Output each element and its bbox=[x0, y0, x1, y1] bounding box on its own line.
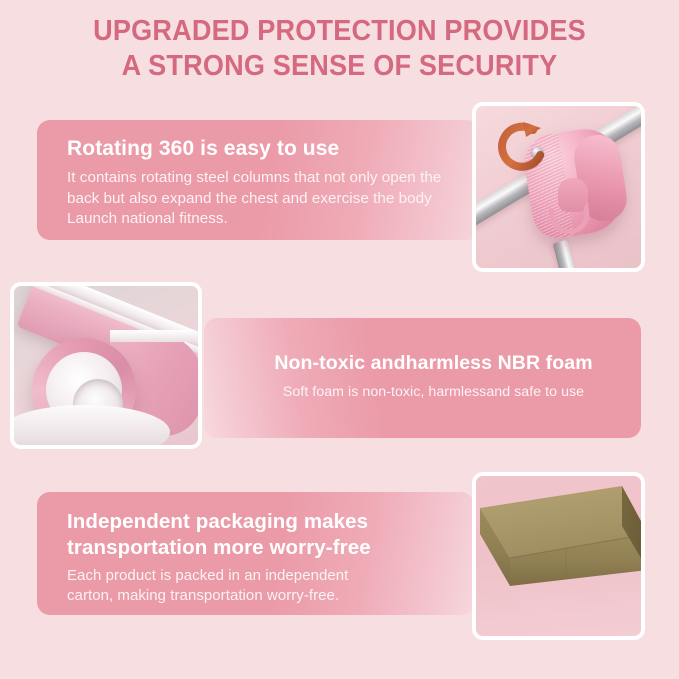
feature-card-packaging: Independent packaging makes transportati… bbox=[37, 492, 474, 615]
feature-rotating-body: It contains rotating steel columns that … bbox=[67, 168, 460, 230]
feature-packaging-body-line-2: carton, making transportation worry-free… bbox=[67, 587, 339, 604]
rotating-hinge-photo bbox=[472, 102, 645, 272]
feature-foam-heading: Non-toxic andharmless NBR foam bbox=[244, 351, 623, 376]
feature-packaging-body-line-1: Each product is packed in an independent bbox=[67, 567, 348, 584]
feature-packaging-heading-line-2: transportation more worry-free bbox=[67, 536, 371, 559]
feature-rotating-heading: Rotating 360 is easy to use bbox=[67, 136, 460, 162]
nbr-foam-roll-photo bbox=[10, 282, 202, 449]
feature-card-foam: Non-toxic andharmless NBR foam Soft foam… bbox=[204, 318, 641, 438]
carton-box-photo bbox=[472, 472, 645, 640]
page-title: UPGRADED PROTECTION PROVIDES A STRONG SE… bbox=[17, 14, 662, 84]
cardboard-box-icon bbox=[476, 482, 641, 632]
rotation-arrow-icon bbox=[493, 118, 549, 174]
hinge-scene bbox=[476, 106, 641, 268]
foam-tail-lip-icon bbox=[110, 330, 198, 342]
feature-packaging-heading-line-1: Independent packaging makes bbox=[67, 510, 368, 533]
foam-scene bbox=[14, 286, 198, 445]
steel-bar-lower-icon bbox=[553, 240, 597, 268]
feature-foam-body: Soft foam is non-toxic, harmlessand safe… bbox=[244, 383, 623, 402]
carton-scene bbox=[476, 476, 641, 636]
feature-packaging-heading: Independent packaging makes transportati… bbox=[67, 509, 458, 561]
page-title-line-2: A STRONG SENSE OF SECURITY bbox=[17, 49, 662, 84]
infographic-canvas: UPGRADED PROTECTION PROVIDES A STRONG SE… bbox=[0, 0, 679, 679]
feature-packaging-body: Each product is packed in an independent… bbox=[67, 566, 458, 606]
page-title-line-1: UPGRADED PROTECTION PROVIDES bbox=[17, 14, 662, 49]
feature-card-rotating: Rotating 360 is easy to use It contains … bbox=[37, 120, 480, 240]
